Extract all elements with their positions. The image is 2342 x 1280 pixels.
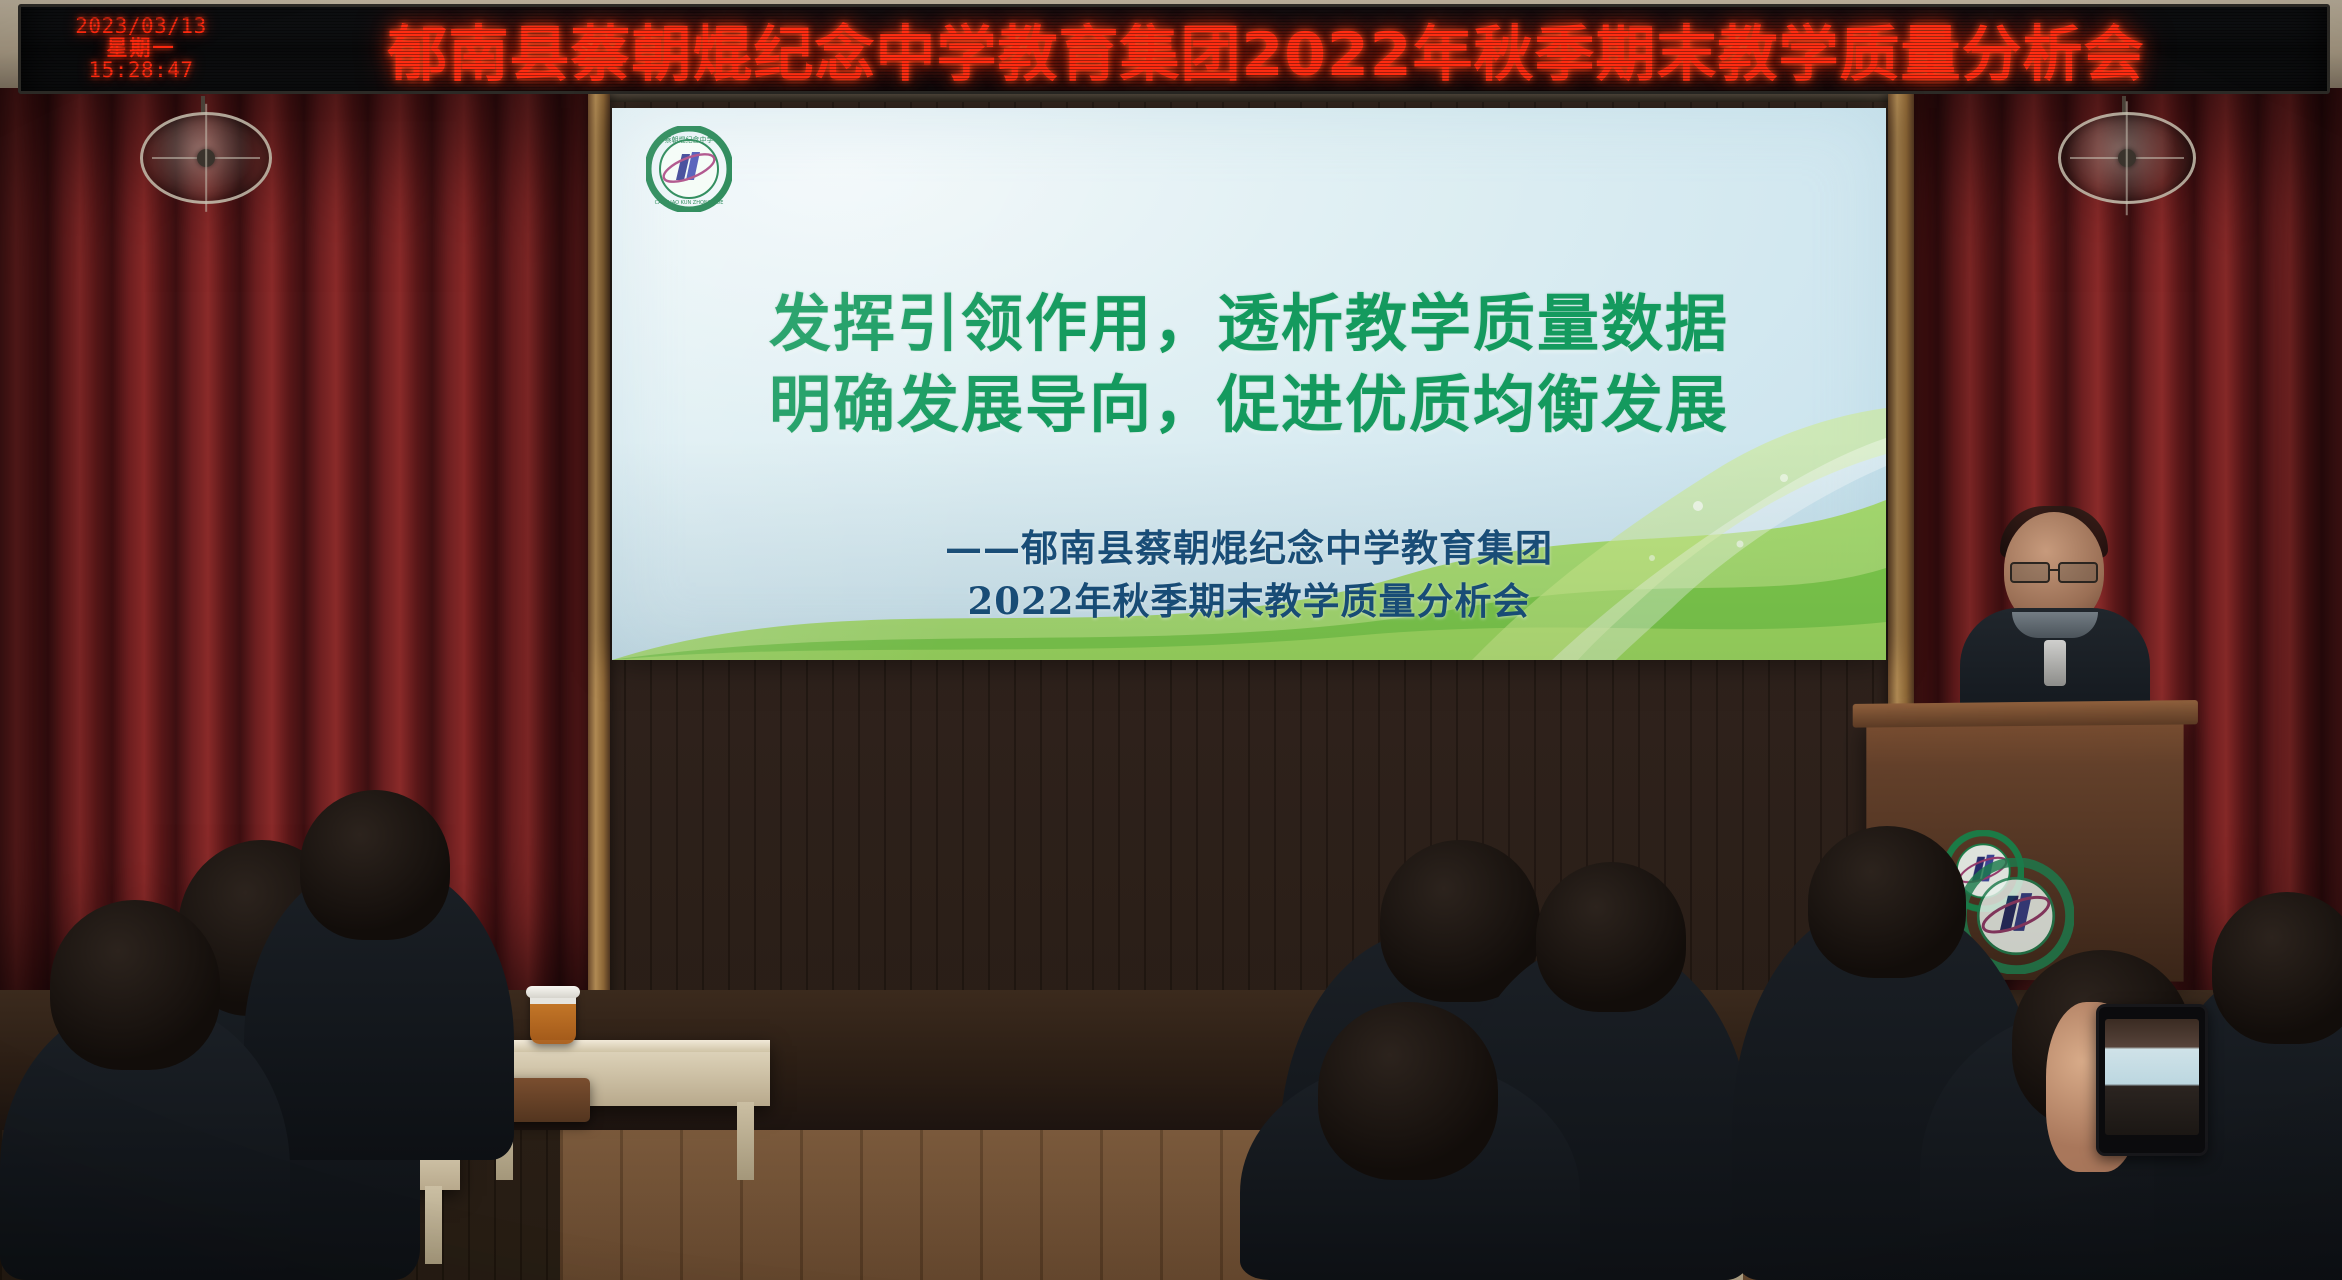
glasses-lens-left <box>2010 562 2050 583</box>
smartphone[interactable] <box>2096 1004 2208 1156</box>
audience-head <box>300 790 450 940</box>
fan-hub <box>2118 149 2136 167</box>
fan-cage <box>2058 112 2196 204</box>
presenter-collar <box>2012 612 2098 638</box>
slide-title: 发挥引领作用，透析教学质量数据 明确发展导向，促进优质均衡发展 <box>612 284 1886 445</box>
screenshot-root: 2023/03/13 星期一 15:28:47 郁南县蔡朝焜纪念中学教育集团20… <box>0 0 2342 1280</box>
led-banner: 2023/03/13 星期一 15:28:47 郁南县蔡朝焜纪念中学教育集团20… <box>18 4 2330 94</box>
phone-screen-preview <box>2105 1019 2199 1135</box>
fan-cage <box>140 112 272 204</box>
audience-head <box>1536 862 1686 1012</box>
table-edge <box>480 1040 770 1052</box>
led-clock: 2023/03/13 星期一 15:28:47 <box>21 16 231 81</box>
led-banner-title: 郁南县蔡朝焜纪念中学教育集团2022年秋季期末教学质量分析会 <box>231 6 2327 93</box>
audience-head <box>50 900 220 1070</box>
led-date: 2023/03/13 <box>51 16 231 38</box>
screen-frame-left <box>588 88 610 1098</box>
slide-subtitle-line2: 2022年秋季期末教学质量分析会 <box>612 575 1886 628</box>
audience-head <box>1808 826 1966 978</box>
ceiling-fan-right <box>2058 96 2190 212</box>
audience-head <box>1318 1002 1498 1180</box>
projection-screen: 蔡朝焜纪念中学 CAI CHAO KUN ZHONG XUE 发挥引领作用，透析… <box>612 108 1886 660</box>
ceiling-fan-left <box>140 96 266 208</box>
svg-text:CAI CHAO KUN ZHONG XUE: CAI CHAO KUN ZHONG XUE <box>655 200 724 206</box>
svg-text:蔡朝焜纪念中学: 蔡朝焜纪念中学 <box>665 135 714 144</box>
led-time: 15:28:47 <box>51 60 231 82</box>
slide-title-line1: 发挥引领作用，透析教学质量数据 <box>769 287 1729 360</box>
table-leg <box>425 1186 442 1264</box>
podium-top <box>1853 700 2198 728</box>
fan-hub <box>197 149 215 167</box>
glasses-lens-right <box>2058 562 2098 583</box>
slide-subtitle: ——郁南县蔡朝焜纪念中学教育集团 2022年秋季期末教学质量分析会 <box>612 522 1886 627</box>
tea-cup <box>530 990 576 1044</box>
glasses-icon <box>2010 562 2098 579</box>
led-weekday: 星期一 <box>51 38 231 60</box>
table-leg <box>737 1102 754 1180</box>
audience-head <box>2212 892 2342 1044</box>
school-emblem-icon: 蔡朝焜纪念中学 CAI CHAO KUN ZHONG XUE <box>646 126 732 212</box>
slide-subtitle-line1: ——郁南县蔡朝焜纪念中学教育集团 <box>945 526 1553 570</box>
slide-title-line2: 明确发展导向，促进优质均衡发展 <box>612 365 1886 446</box>
microphone-icon <box>2044 640 2066 686</box>
